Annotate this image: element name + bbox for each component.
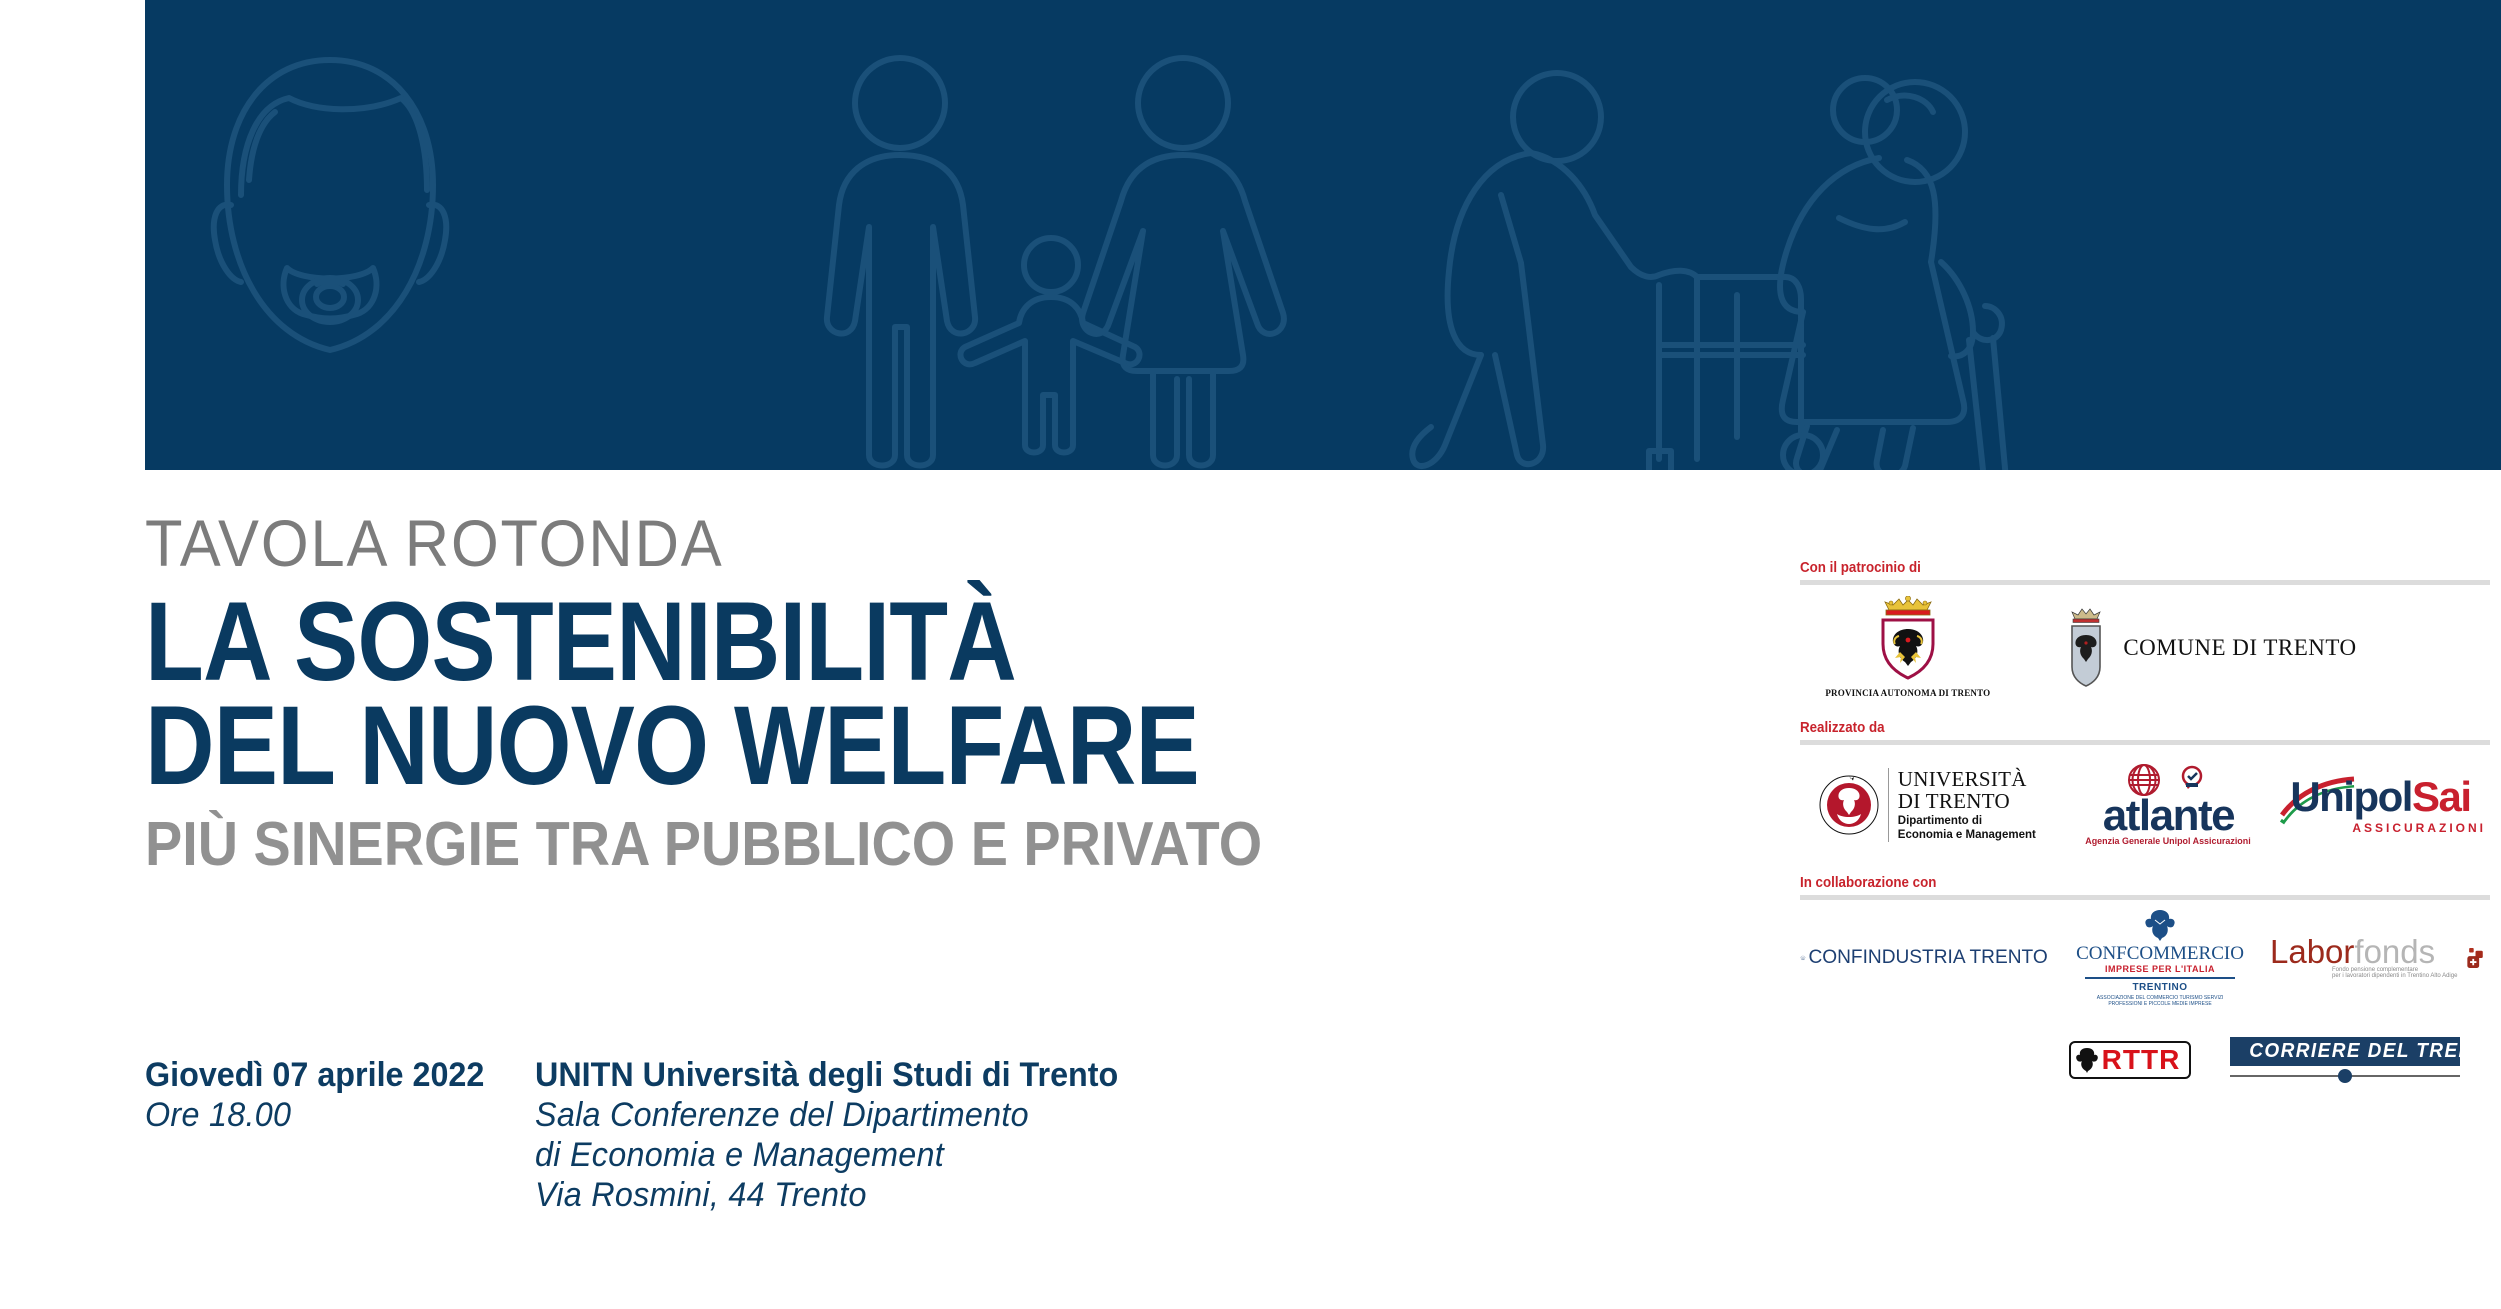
event-headline-block: TAVOLA ROTONDA LA SOSTENIBILITÀ DEL NUOV… [145,470,1775,876]
laborfonds-fineprint2: per i lavoratori dipendenti in Trentino … [2332,973,2457,979]
comune-di-trento-logo: COMUNE DI TRENTO [2045,607,2375,689]
unipolsai-wordmark-a: Unipol [2290,773,2412,820]
family-child-icon [960,238,1139,453]
sponsor-block-patronage: Con il patrocinio di [1800,560,2490,710]
sponsor-label-collaboration: In collaborazione con [1800,875,2435,895]
poster-root: TAVOLA ROTONDA LA SOSTENIBILITÀ DEL NUOV… [0,0,2501,1309]
laborfonds-wordmark-b: fonds [2354,933,2435,970]
laborfonds-logo: Laborfonds Fondo pensione complementare … [2270,932,2485,984]
rttr-eagle-icon [2076,1047,2098,1073]
baby-face-icon [214,60,446,350]
atlante-wordmark: atlante [2103,797,2234,834]
unipolsai-logo: UnipolSai ASSICURAZIONI [2280,775,2490,835]
unitn-wordmark: UNIVERSITÀ DI TRENTO Dipartimento di Eco… [1888,768,2036,842]
unitn-line2: DI TRENTO [1898,790,2036,812]
provincia-shield-icon [1869,596,1947,684]
confcommercio-wordmark: CONFCOMMERCIO [2076,944,2244,963]
elderly-woman-cane-icon [1780,78,2005,470]
universita-di-trento-logo: UNIVERSITÀ DI TRENTO Dipartimento di Eco… [1800,768,2055,842]
sponsor-panel: Con il patrocinio di [1800,560,2490,1105]
family-father-icon [827,58,975,466]
atlante-globe-icon [2121,763,2167,797]
comune-shield-icon [2063,607,2109,689]
sponsor-label-produced-by: Realizzato da [1800,720,2435,740]
sponsor-block-produced-by: Realizzato da UNIVERSITÀ DI TRENTO [1800,720,2490,865]
confcommercio-logo: CONFCOMMERCIO IMPRESE PER L'ITALIA TRENT… [2050,908,2270,1007]
event-room-line1: Sala Conferenze del Dipartimento [535,1095,1390,1135]
confcommercio-region: TRENTINO [2132,982,2187,993]
elderly-man-walker-icon [1412,73,1823,470]
event-title-line1: LA SOSTENIBILITÀ [145,590,1547,694]
provincia-autonoma-di-trento-logo: PROVINCIA AUTONOMA DI TRENTO [1800,596,2015,699]
event-date: Giovedì 07 aprile 2022 [145,1055,506,1095]
unitn-seal-icon [1819,774,1879,836]
atlante-tagline: Agenzia Generale Unipol Assicurazioni [2086,836,2251,847]
event-institution: UNITN Università degli Studi di Trento [535,1055,1390,1095]
atlante-logo: atlante Agenzia Generale Unipol Assicura… [2069,763,2269,847]
confcommercio-rule [2085,977,2235,979]
hero-banner [145,0,2501,470]
sponsor-label-patronage: Con il patrocinio di [1800,560,2435,580]
confcommercio-eagle-icon [2142,908,2178,942]
unitn-line1: UNIVERSITÀ [1898,768,2036,790]
event-title: LA SOSTENIBILITÀ DEL NUOVO WELFARE [145,590,1547,798]
unitn-line4: Economia e Management [1898,829,2036,842]
unipolsai-wordmark-b: Sai [2412,773,2471,820]
event-address: Via Rosmini, 44 Trento [535,1175,1390,1215]
laborfonds-wordmark-a: Labor [2270,933,2354,970]
confindustria-trento-logo: CONFINDUSTRIA TRENTO [1800,935,2050,981]
atlante-badge-icon [2179,765,2205,791]
confcommercio-fineprint2: PROFESSIONI E PICCOLE MEDIE IMPRESE [2108,1001,2211,1007]
sponsor-block-collaboration: In collaborazione con [1800,875,2490,1095]
event-when: Giovedì 07 aprile 2022 Ore 18.00 [145,1055,525,1135]
event-where: UNITN Università degli Studi di Trento S… [535,1055,1435,1215]
comune-caption: COMUNE DI TRENTO [2123,635,2356,661]
rttr-wordmark: RTTR [2102,1046,2181,1074]
laborfonds-mark-icon [2461,932,2485,984]
confindustria-wordmark: CONFINDUSTRIA TRENTO [1808,946,2047,969]
hero-illustration [145,0,2501,470]
family-mother-icon [1082,58,1284,466]
corriere-wordmark: CORRIERE DEL TRENTINO [2249,1040,2501,1063]
confcommercio-sub: IMPRESE PER L'ITALIA [2105,964,2215,974]
event-kicker: TAVOLA ROTONDA [145,510,1661,576]
rttr-logo: RTTR [2050,1041,2210,1079]
unitn-line3: Dipartimento di [1898,815,2036,828]
corriere-rule [2230,1069,2460,1083]
event-title-line2: DEL NUOVO WELFARE [145,694,1547,798]
event-subtitle: PIÙ SINERGIE TRA PUBBLICO E PRIVATO [145,814,1612,876]
event-room-line2: di Economia e Management [535,1135,1390,1175]
provincia-caption: PROVINCIA AUTONOMA DI TRENTO [1825,689,1990,699]
corriere-del-trentino-logo: CORRIERE DEL TRENTINO [2220,1037,2470,1083]
confindustria-eagle-icon [1800,935,1806,981]
event-time: Ore 18.00 [145,1095,506,1135]
